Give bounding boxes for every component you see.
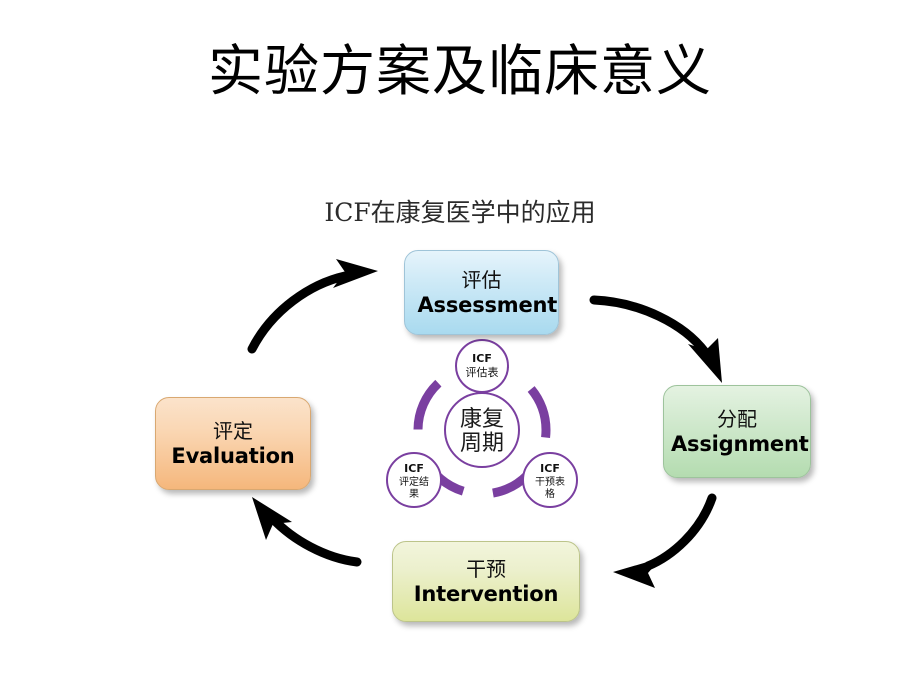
arrow-assessment-to-assignment <box>594 300 722 383</box>
diagram-caption: ICF在康复医学中的应用 <box>0 198 920 228</box>
cycle-box-assignment-cn: 分配 <box>717 407 757 431</box>
icf-node-title: ICF <box>540 462 560 475</box>
cycle-box-intervention[interactable]: 干预 Intervention <box>392 541 580 622</box>
cycle-box-intervention-cn: 干预 <box>466 557 506 581</box>
cycle-box-assessment[interactable]: 评估 Assessment <box>404 250 559 335</box>
arrow-assignment-to-intervention <box>613 498 712 588</box>
cycle-box-assessment-cn: 评估 <box>462 268 502 292</box>
cycle-box-evaluation[interactable]: 评定 Evaluation <box>155 397 311 490</box>
ring-center: 康复 周期 <box>445 393 519 467</box>
slide-canvas: 实验方案及临床意义 ICF在康复医学中的应用 <box>0 0 920 690</box>
icf-node-line1: 干预表 <box>535 475 565 488</box>
ring-center-line2: 周期 <box>460 431 504 456</box>
cycle-box-assignment-en: Assignment <box>671 431 803 457</box>
cycle-box-evaluation-cn: 评定 <box>213 419 253 443</box>
cycle-box-intervention-en: Intervention <box>395 581 577 607</box>
icf-node-line1: 评定结 <box>399 475 429 488</box>
icf-node-title: ICF <box>472 352 492 365</box>
cycle-box-assessment-en: Assessment <box>418 292 546 318</box>
icf-node-line2: 果 <box>409 488 419 500</box>
arrow-intervention-to-evaluation <box>252 497 357 562</box>
page-title: 实验方案及临床意义 <box>0 38 920 104</box>
cycle-box-assignment[interactable]: 分配 Assignment <box>663 385 811 478</box>
icf-rehabilitation-cycle-ring: 康复 周期 ICF 评估表 ICF 评定结 果 ICF 干预表 格 <box>378 338 586 522</box>
icf-node-evaluation-result: ICF 评定结 果 <box>387 453 441 507</box>
icf-node-assessment-form: ICF 评估表 <box>456 340 508 392</box>
arrow-evaluation-to-assessment <box>252 259 378 349</box>
icf-node-line2: 格 <box>545 487 555 500</box>
icf-node-intervention-form: ICF 干预表 格 <box>523 453 577 507</box>
cycle-box-evaluation-en: Evaluation <box>158 443 308 469</box>
icf-node-title: ICF <box>404 462 424 475</box>
icf-node-line1: 评估表 <box>466 365 499 379</box>
ring-center-line1: 康复 <box>460 407 504 432</box>
